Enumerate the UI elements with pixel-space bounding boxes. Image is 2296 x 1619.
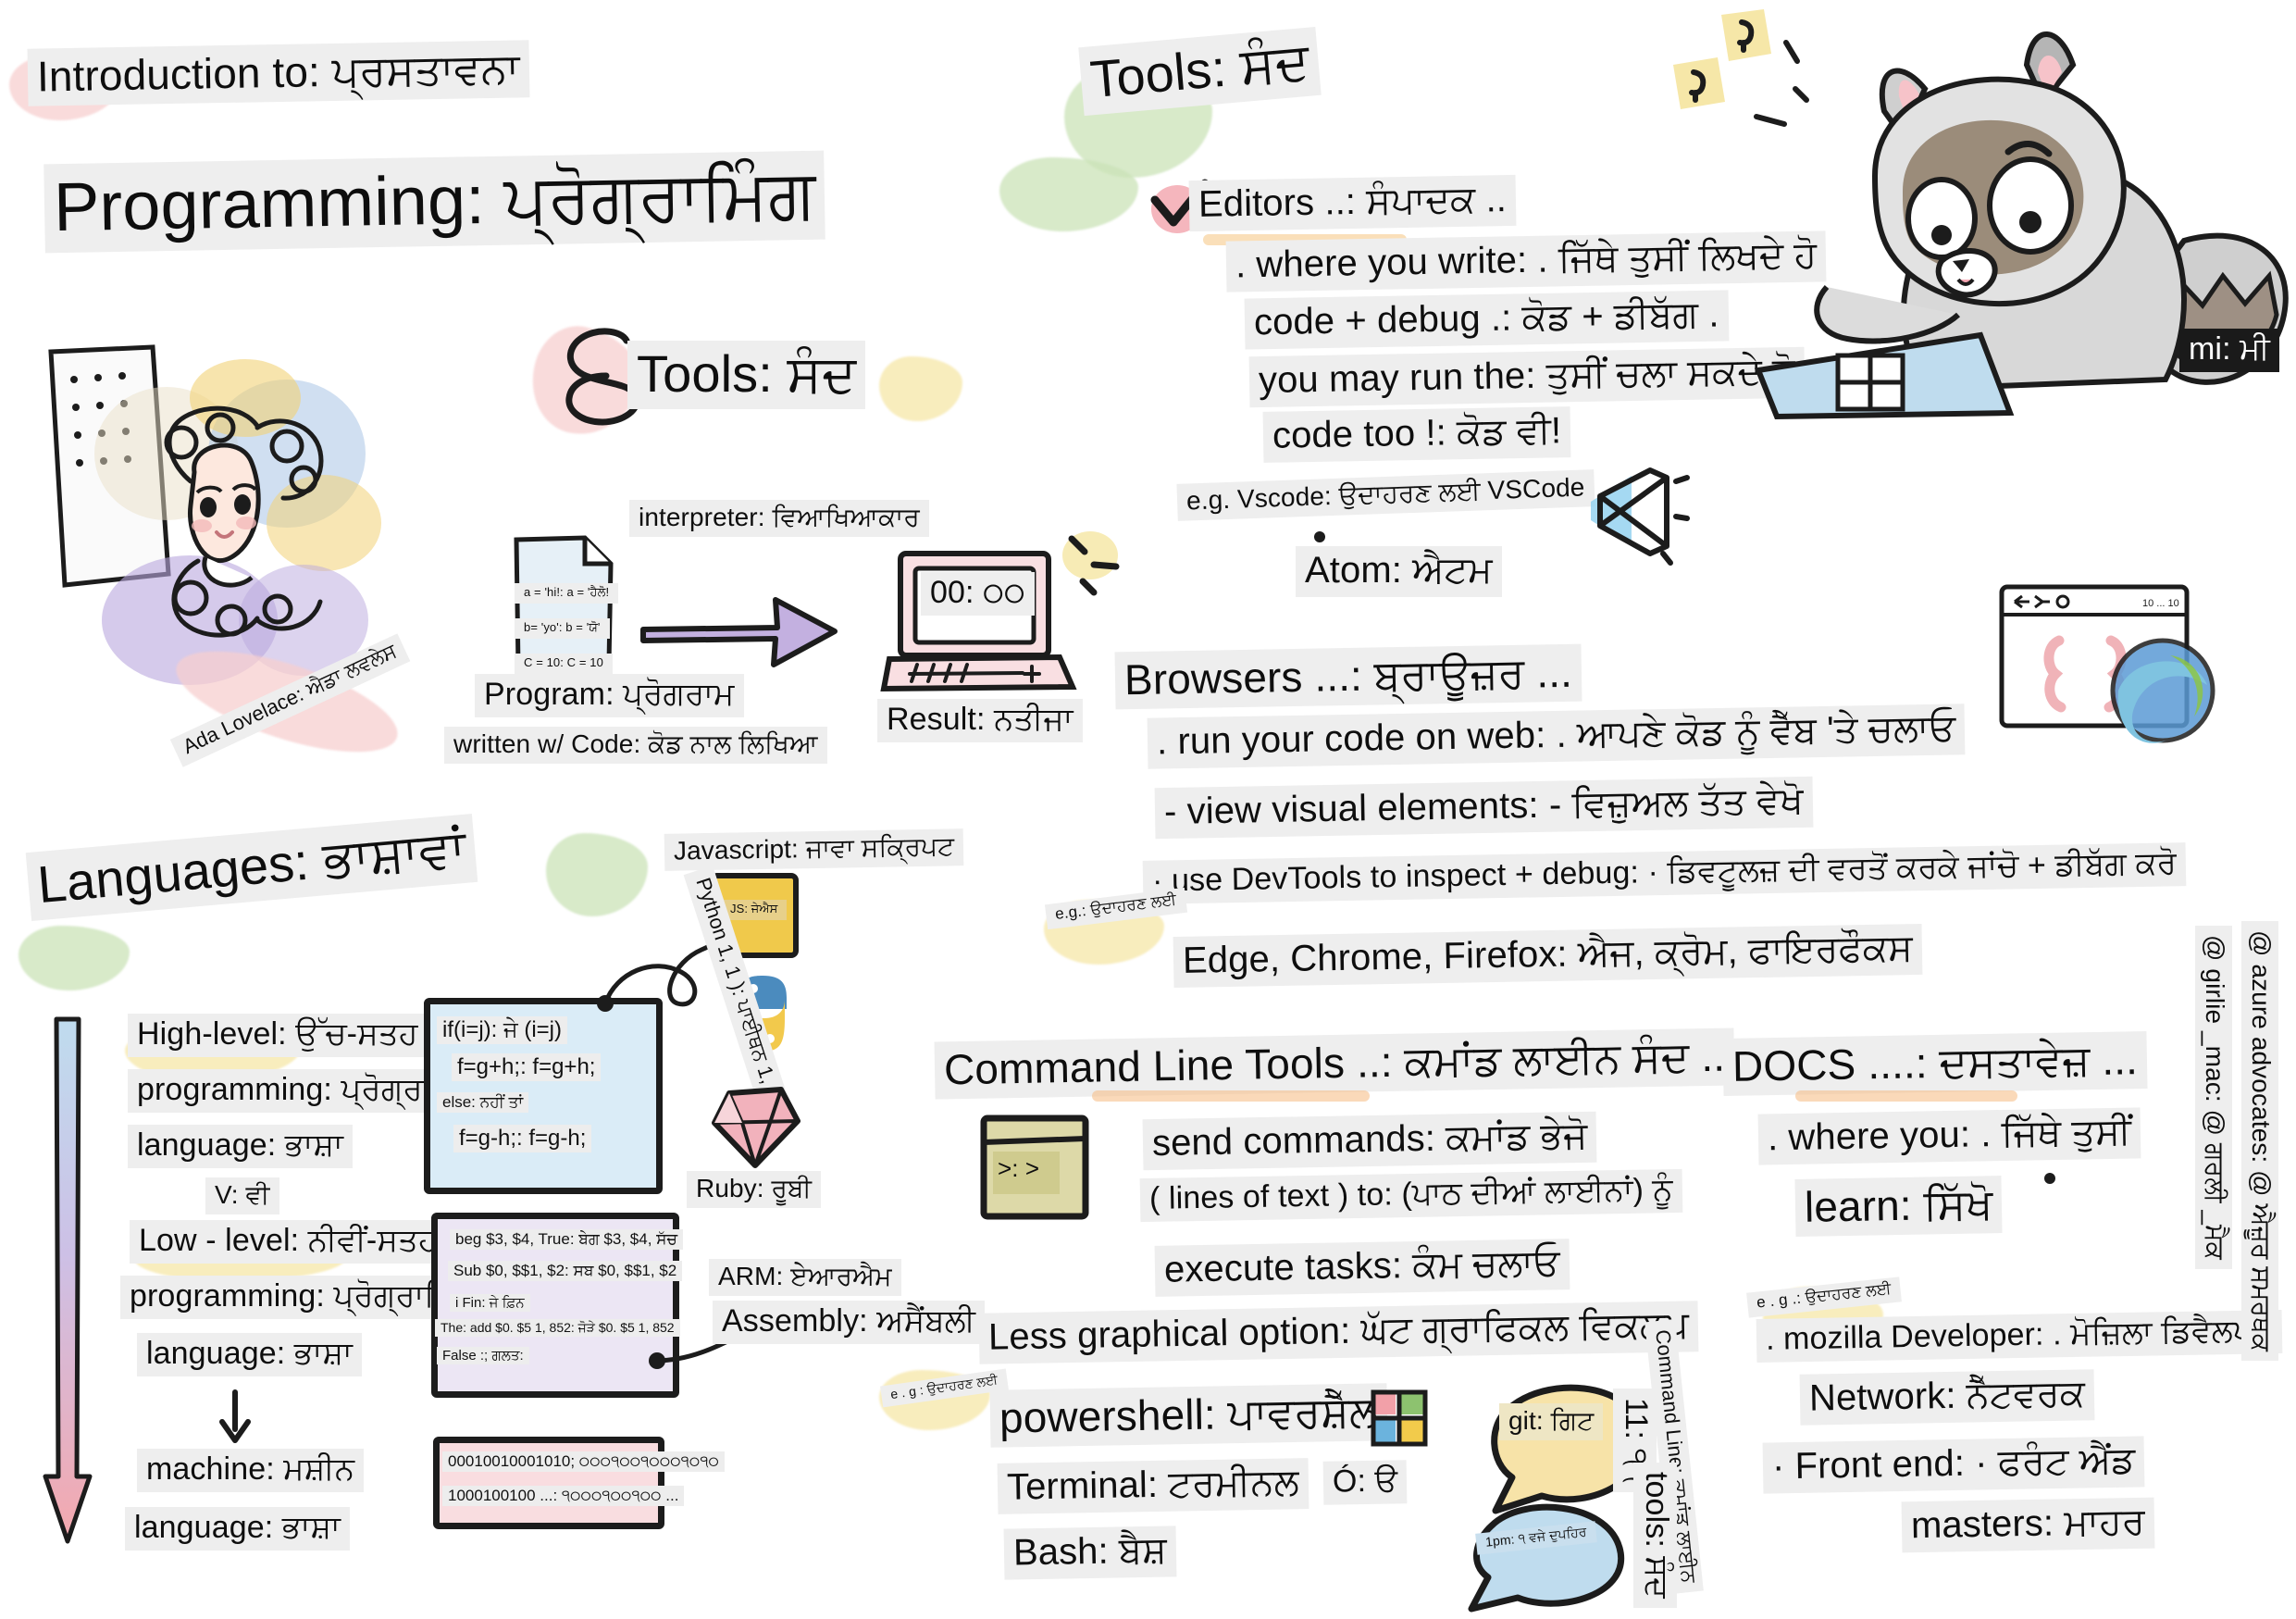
code-high-line-2: f=g+h;: f=g+h; [452,1053,601,1081]
tools-heading-right: Tools: ਸੰਦ [1078,27,1322,116]
page-subtitle: Introduction to: ਪ੍ਰਸਤਾਵਨਾ [27,40,529,106]
result-screen-value: 00: ੦੦ [921,572,1035,616]
code-asm-line-1: beg $3, $4, True: ਬੇਗ $3, $4, ਸੱਚ [450,1229,683,1250]
level-separator-v: V: ਵੀ [205,1177,279,1214]
low-level-line-1: Low - level: ਨੀਵੀਂ-ਸਤਹ [130,1220,447,1264]
javascript-label: Javascript: ਜਾਵਾ ਸਕ੍ਰਿਪਟ [664,828,964,871]
tools-heading-left: Tools: ਸੰਦ [627,341,865,409]
editors-atom: Atom: ਐਟਮ [1296,546,1502,597]
arm-label: ARM: ਏਆਰਐਮ [709,1259,901,1296]
browsers-line-1: . run your code on web: . ਆਪਣੇ ਕੋਡ ਨੂੰ ਵ… [1148,704,1966,768]
vscode-icon [1578,461,1689,563]
dot-marker-docs [2043,1172,2060,1189]
terminal-extra-label: Ó: ੳ [1323,1460,1408,1505]
docs-line-2: learn: ਸਿੱਖੋ [1794,1176,2002,1237]
browsers-names: Edge, Chrome, Firefox: ਐਜ, ਕ੍ਰੋਮ, ਫਾਇਰਫੌ… [1173,924,1923,988]
program-label: Program: ਪ੍ਰੋਗਰਾਮ [475,674,744,717]
code-high-line-4: f=g-h;: f=g-h; [453,1125,591,1152]
interpreter-label: interpreter: ਵਿਆਖਿਆਕਾਰ [629,500,929,537]
level-gradient-arrow-icon [42,1014,97,1551]
code-machine-line-1: 00010010001010; ੦੦੦੧੦੦੧੦੦੦੧੦੧੦ [442,1451,725,1472]
highlight-docs [1795,1090,2017,1102]
browsers-line-2: - view visual elements: - ਵਿਜ਼ੁਅਲ ਤੱਤ ਵੇ… [1155,777,1814,839]
low-level-line-3: language: ਭਾਸ਼ਾ [137,1333,362,1376]
highlight-cli [1092,1090,1370,1102]
dot-marker-editors [1312,529,1331,548]
assembly-label: Assembly: ਅਸੈਂਬਲੀ [713,1301,985,1344]
result-label: Result: ਨਤੀਜਾ [877,699,1083,742]
blob-yellow-tools-left [879,356,962,421]
windows-icon [1368,1387,1433,1451]
high-level-line-1: High-level: ਉੱਚ-ਸਤਹ [128,1014,428,1057]
credit-azure-advocates: @ azure advocates: @ ਐਜ਼ੂਰ ਸਮਰਥਕ [2241,921,2278,1361]
docs-mozilla: . mozilla Developer: . ਮੋਜ਼ਿਲਾ ਡਿਵੈਲਪਰ [1756,1310,2283,1363]
machine-line-1: machine: ਮਸ਼ੀਨ [137,1449,364,1492]
svg-text:10 ... 10: 10 ... 10 [2142,598,2179,609]
code-high-line-1: if(i=j): ਜੇ (i=j) [437,1016,567,1044]
bash-label: Bash: ਬੈਸ਼ [1004,1526,1177,1579]
terminal-prompt: >: > [988,1152,1049,1188]
credit-girlie-mac: @ girlie _mac: @ ਗਰਲੀ _ਮੈਕ [2195,926,2232,1269]
docs-network: Network: ਨੈੱਟਵਰਕ [1800,1369,2095,1425]
code-asm-line-2: Sub $0, $$1, $2: ਸਬ $0, $$1, $2 [448,1261,682,1281]
browsers-line-3: · use DevTools to inspect + debug: · ਡਿਵ… [1143,842,2187,904]
cli-heading: Command Line Tools ..: ਕਮਾਂਡ ਲਾਈਨ ਸੰਦ .. [935,1027,1735,1099]
terminal-label: Terminal: ਟਰਮੀਨਲ [998,1458,1309,1514]
languages-heading: Languages: ਭਾਸ਼ਾਵਾਂ [26,814,478,921]
editors-example-vscode: e.g. Vscode: ਉਦਾਹਰਣ ਲਈ VSCode [1176,469,1595,521]
down-arrow-icon-machine [215,1389,257,1446]
sketchnote-canvas: Introduction to: ਪ੍ਰਸਤਾਵਨਾ Programming: … [0,0,2296,1619]
docs-line-1: . where you: . ਜਿੱਥੇ ਤੁਸੀਂ [1758,1107,2141,1164]
blob-green-languages [19,926,130,990]
browser-window-icon: 10 ... 10 [1994,581,2226,766]
docs-frontend: · Front end: · ਫਰੰਟ ਐਂਡ [1763,1436,2145,1493]
editors-heading: Editors ..: ਸੰਪਾਦਕ .. [1189,175,1517,231]
git-label: git: ਗਿਟ [1499,1403,1603,1440]
cli-line-1: send commands: ਕਮਾਂਡ ਭੇਜੋ [1143,1112,1597,1170]
cli-vertical-tools: tools: ਸੰਦ [1633,1463,1677,1608]
program-code-line-3: C = 10: C = 10 [515,654,613,674]
page-title: Programming: ਪ੍ਰੋਗ੍ਰਾਮਿੰਗ [43,151,825,254]
javascript-badge: JS: ਜੇਐਸ [721,900,787,920]
editors-line-2: code + debug .: ਕੋਡ + ਡੀਬੱਗ . [1245,290,1729,349]
code-asm-line-3: i Fin: ਜੇ ਫ਼ਿਨ [450,1294,530,1312]
docs-heading: DOCS ....: ਦਸਤਾਵੇਜ਼ ... [1722,1031,2147,1096]
high-level-line-3: language: ਭਾਸ਼ਾ [128,1125,353,1168]
written-with-code-label: written w/ Code: ਕੋਡ ਨਾਲ ਲਿਖਿਆ [444,727,827,764]
cli-line-2: ( lines of text ) to: (ਪਾਠ ਦੀਆਂ ਲਾਈਨਾਂ) … [1140,1169,1682,1223]
code-asm-line-4: The: add $0. $5 1, 852: ਜੋੜੇ $0. $5 1, 8… [435,1319,680,1337]
cli-line-3: execute tasks: ਕੰਮ ਚਲਾਓ [1155,1239,1570,1297]
code-box-machine [433,1437,664,1529]
program-code-line-1: a = 'hi!: a = 'ਹੈਲੋ! [515,583,618,604]
sparkle-icon-result [1051,528,1125,611]
flow-arrow-icon [639,574,842,685]
docs-masters: masters: ਮਾਹਰ [1902,1498,2155,1553]
ruby-label: Ruby: ਰੂਬੀ [687,1171,821,1208]
code-high-line-3: else: ਨਹੀਂ ਤਾਂ [437,1092,528,1113]
editors-line-4: code too !: ਕੋਡ ਵੀ! [1263,406,1571,463]
browsers-heading: Browsers ...: ਬ੍ਰਾਊਜ਼ਰ ... [1114,644,1582,710]
editors-line-3: you may run the: ਤੁਸੀਂ ਚਲਾ ਸਕਦੇ ਹੋ [1249,347,1806,407]
editors-line-1: . where you write: . ਜਿੱਥੇ ਤੁਸੀਂ ਲਿਖਦੇ ਹ… [1226,230,1827,292]
raccoon-label: mi: ਮੀ [2179,329,2279,372]
program-code-line-2: b= 'yo': b = 'ਯੋ' [515,618,610,639]
code-asm-line-5: False :; ਗਲਤ: [437,1347,529,1364]
result-laptop-icon [884,546,1078,704]
powershell-label: powershell: ਪਾਵਰਸ਼ੈੱਲ [989,1383,1387,1448]
cli-line-4: Less graphical option: ਘੱਟ ਗ੍ਰਾਫਿਕਲ ਵਿਕਲ… [979,1301,1699,1364]
ruby-icon [705,1078,807,1176]
code-machine-line-2: 1000100100 ...: ੧੦੦੦੧੦੦੧੦੦ ... [442,1486,684,1506]
machine-line-2: language: ਭਾਸ਼ਾ [125,1507,350,1551]
